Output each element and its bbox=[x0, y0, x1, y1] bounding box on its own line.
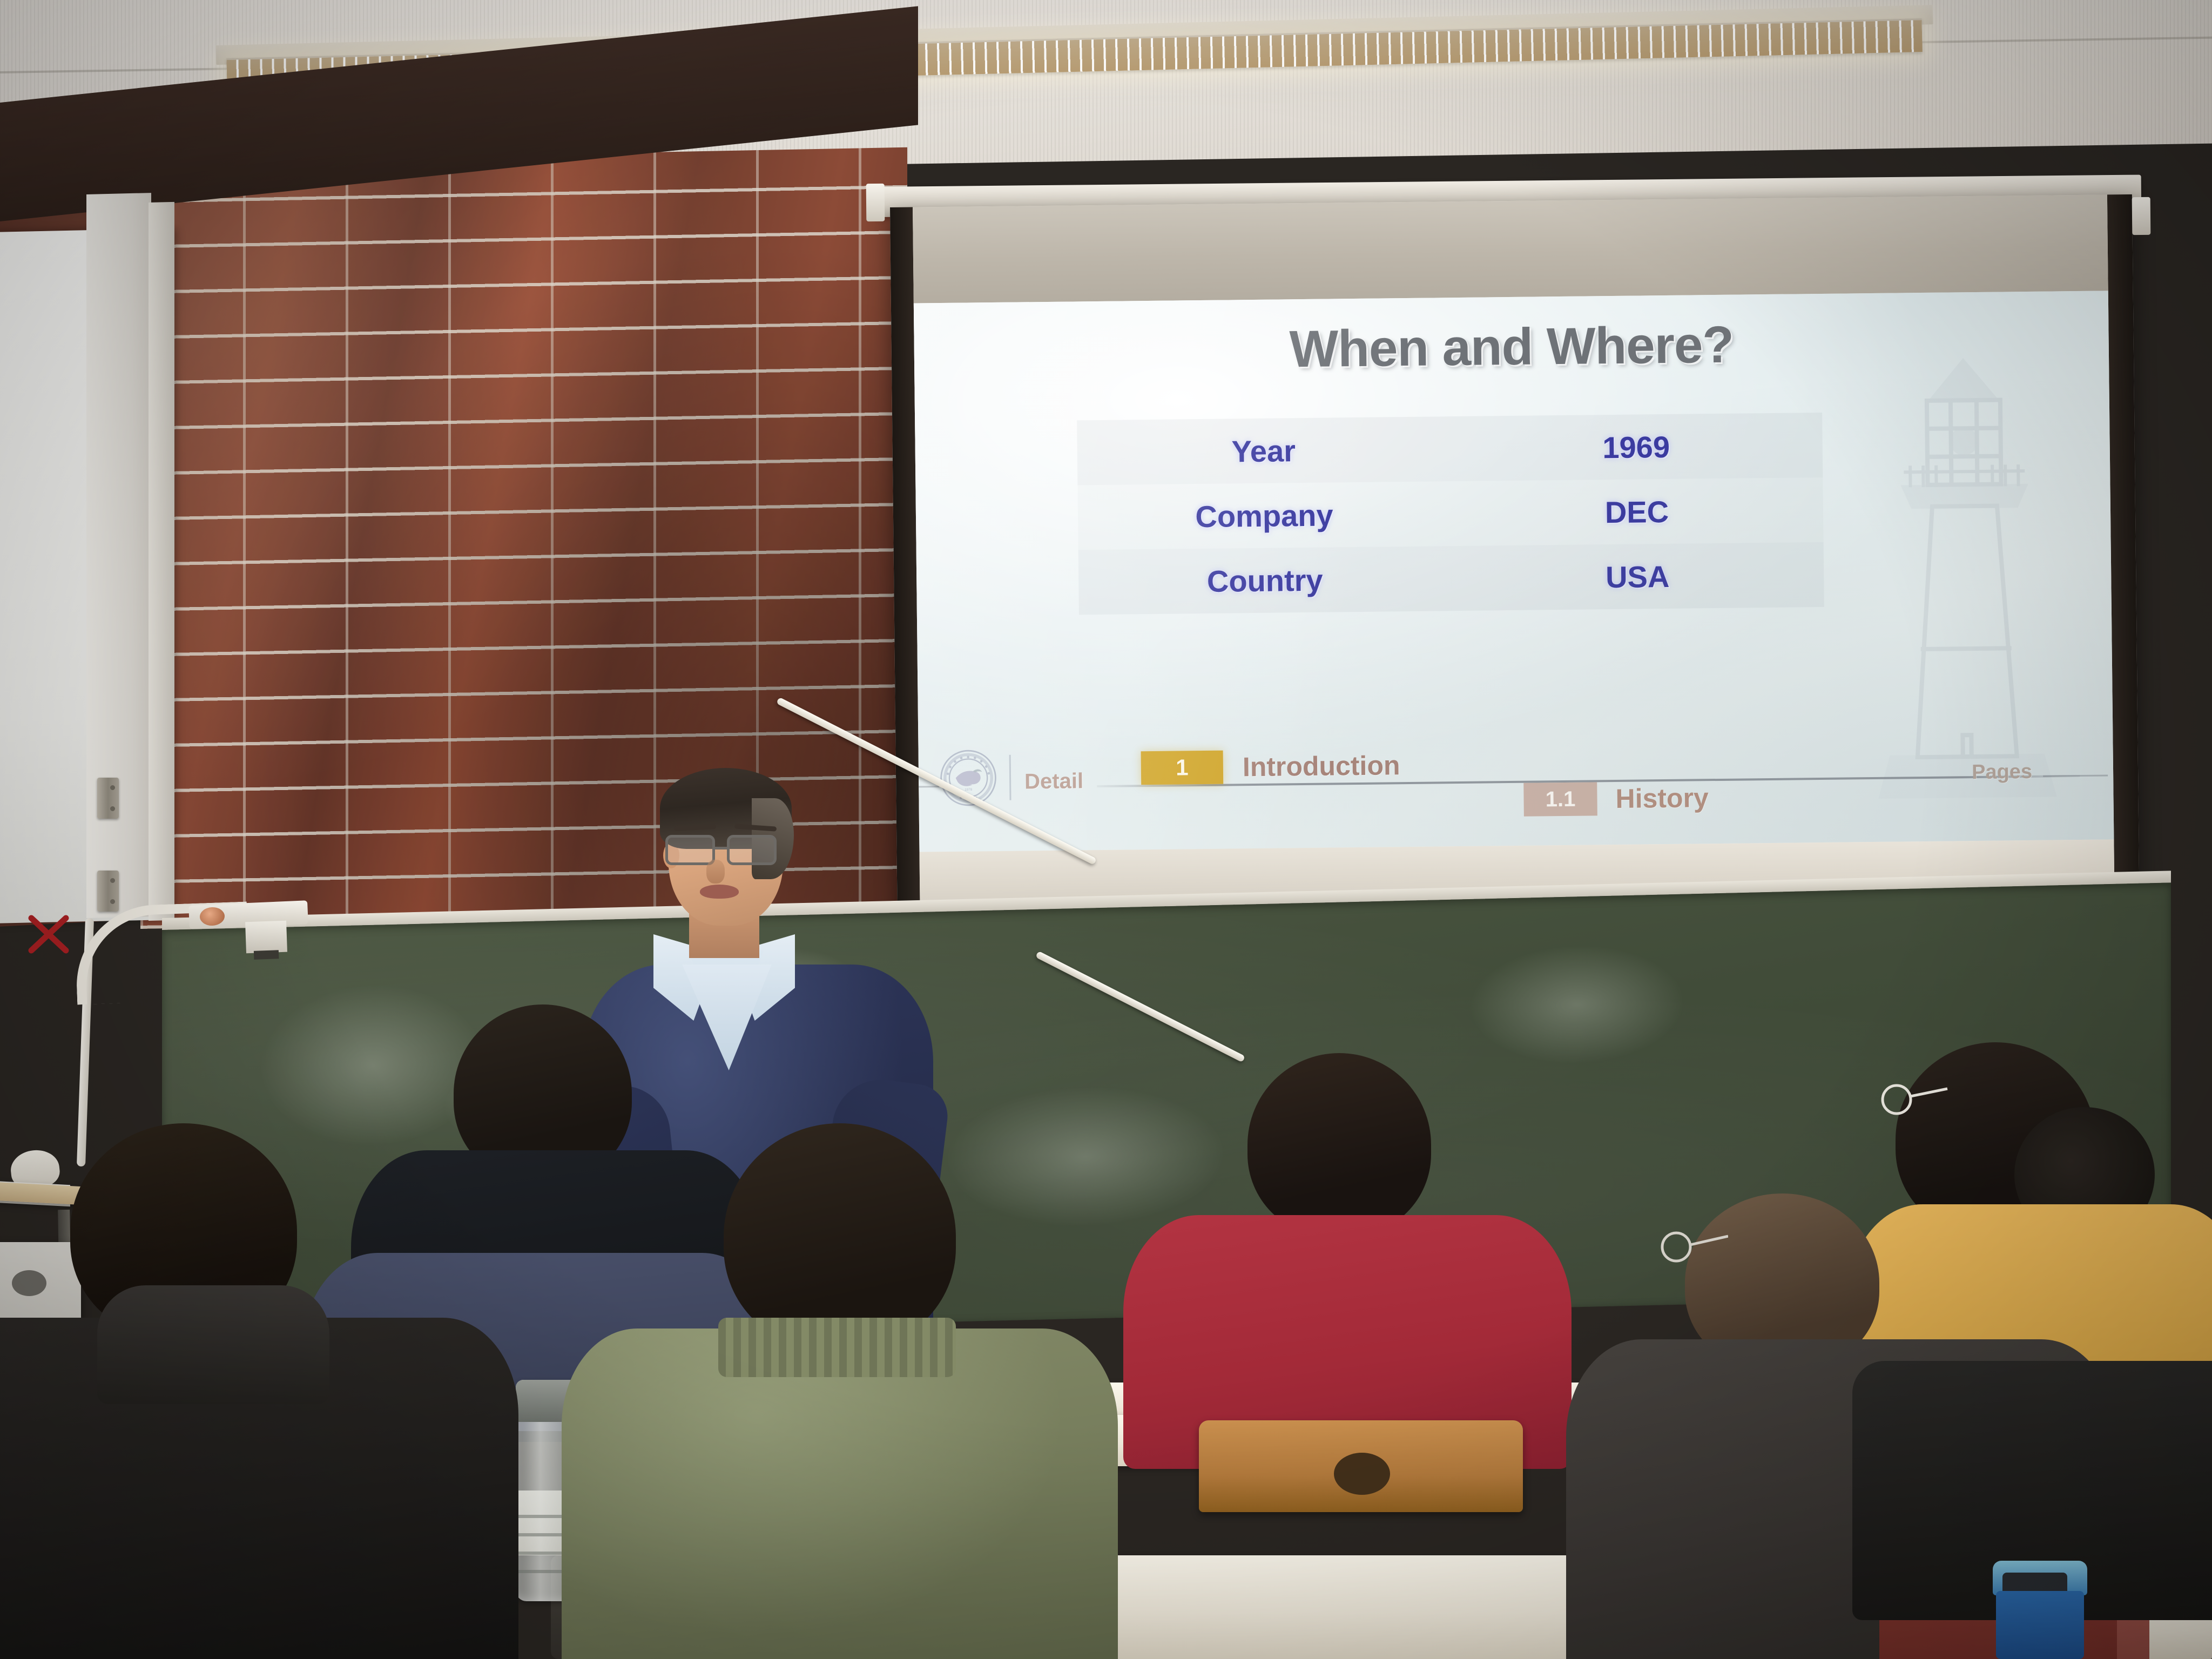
student-sweater-collar bbox=[718, 1318, 956, 1377]
pages-label: Pages bbox=[1972, 760, 2032, 784]
student-head bbox=[1247, 1053, 1431, 1237]
student-torso bbox=[562, 1328, 1118, 1659]
slide-title: When and Where? bbox=[914, 311, 2109, 383]
glasses-lens-left bbox=[665, 835, 715, 865]
student-glasses-icon bbox=[1879, 1080, 1950, 1118]
whiteboard-hinge-upper bbox=[97, 778, 119, 819]
footer-line-right bbox=[2043, 774, 2108, 777]
chair-handle-hole bbox=[1334, 1453, 1390, 1495]
section-label: Introduction bbox=[1243, 750, 1400, 783]
document-camera-housing bbox=[245, 921, 287, 954]
blue-water-bottle[interactable] bbox=[1993, 1561, 2087, 1659]
presenter-mouth bbox=[700, 885, 739, 899]
svg-text:1978: 1978 bbox=[965, 788, 973, 792]
table-cell-label: Year bbox=[1077, 416, 1450, 485]
slide-footer: 1978 Detail 1 Introduction 1.1 History P… bbox=[918, 731, 2114, 835]
section-number-badge: 1 bbox=[1141, 751, 1224, 785]
student-hood bbox=[97, 1285, 329, 1404]
table-cell-value: DEC bbox=[1450, 477, 1823, 546]
projector-screen: When and Where? Year 1969 Company DEC Co… bbox=[890, 194, 2140, 932]
table-cell-value: 1969 bbox=[1449, 413, 1823, 481]
whiteboard-panel-secondary bbox=[86, 193, 151, 918]
student-head bbox=[724, 1123, 956, 1350]
subsection-number-badge: 1.1 bbox=[1523, 782, 1597, 816]
footer-divider bbox=[1009, 755, 1011, 800]
student-red-shirt bbox=[1102, 1053, 1588, 1464]
table-row: Year 1969 bbox=[1077, 413, 1823, 485]
glasses-bridge bbox=[715, 847, 727, 849]
chalk-smudge bbox=[1469, 943, 1685, 1067]
screen-roller-cap-left bbox=[866, 184, 885, 221]
projected-slide: When and Where? Year 1969 Company DEC Co… bbox=[914, 291, 2114, 852]
student-olive-sweater bbox=[572, 1123, 1112, 1659]
glasses-lens-right bbox=[727, 835, 777, 865]
table-cell-value: USA bbox=[1451, 542, 1824, 611]
bottle-body bbox=[1996, 1591, 2084, 1659]
table-cell-label: Country bbox=[1078, 546, 1452, 615]
presenter-nose bbox=[706, 860, 725, 884]
subsection-label: History bbox=[1615, 782, 1709, 814]
red-x-mark-icon bbox=[27, 913, 70, 956]
screen-fabric-top-band bbox=[913, 194, 2108, 303]
screen-roller-cap-right bbox=[2132, 197, 2151, 235]
whiteboard-panel-tertiary bbox=[149, 202, 174, 921]
table-row: Company DEC bbox=[1077, 477, 1823, 550]
student-glasses-icon bbox=[1658, 1229, 1728, 1266]
student-obey-jacket bbox=[0, 1123, 518, 1659]
lecture-hall-scene: When and Where? Year 1969 Company DEC Co… bbox=[0, 0, 2212, 1659]
lighthouse-watermark bbox=[1822, 323, 2108, 801]
table-cell-label: Company bbox=[1077, 481, 1451, 550]
presenter-glasses-icon bbox=[662, 835, 792, 867]
whiteboard-hinge-lower bbox=[97, 871, 119, 912]
footer-detail-label: Detail bbox=[1024, 769, 1083, 794]
table-row: Country USA bbox=[1078, 542, 1824, 615]
slide-data-table: Year 1969 Company DEC Country USA bbox=[1077, 413, 1824, 615]
